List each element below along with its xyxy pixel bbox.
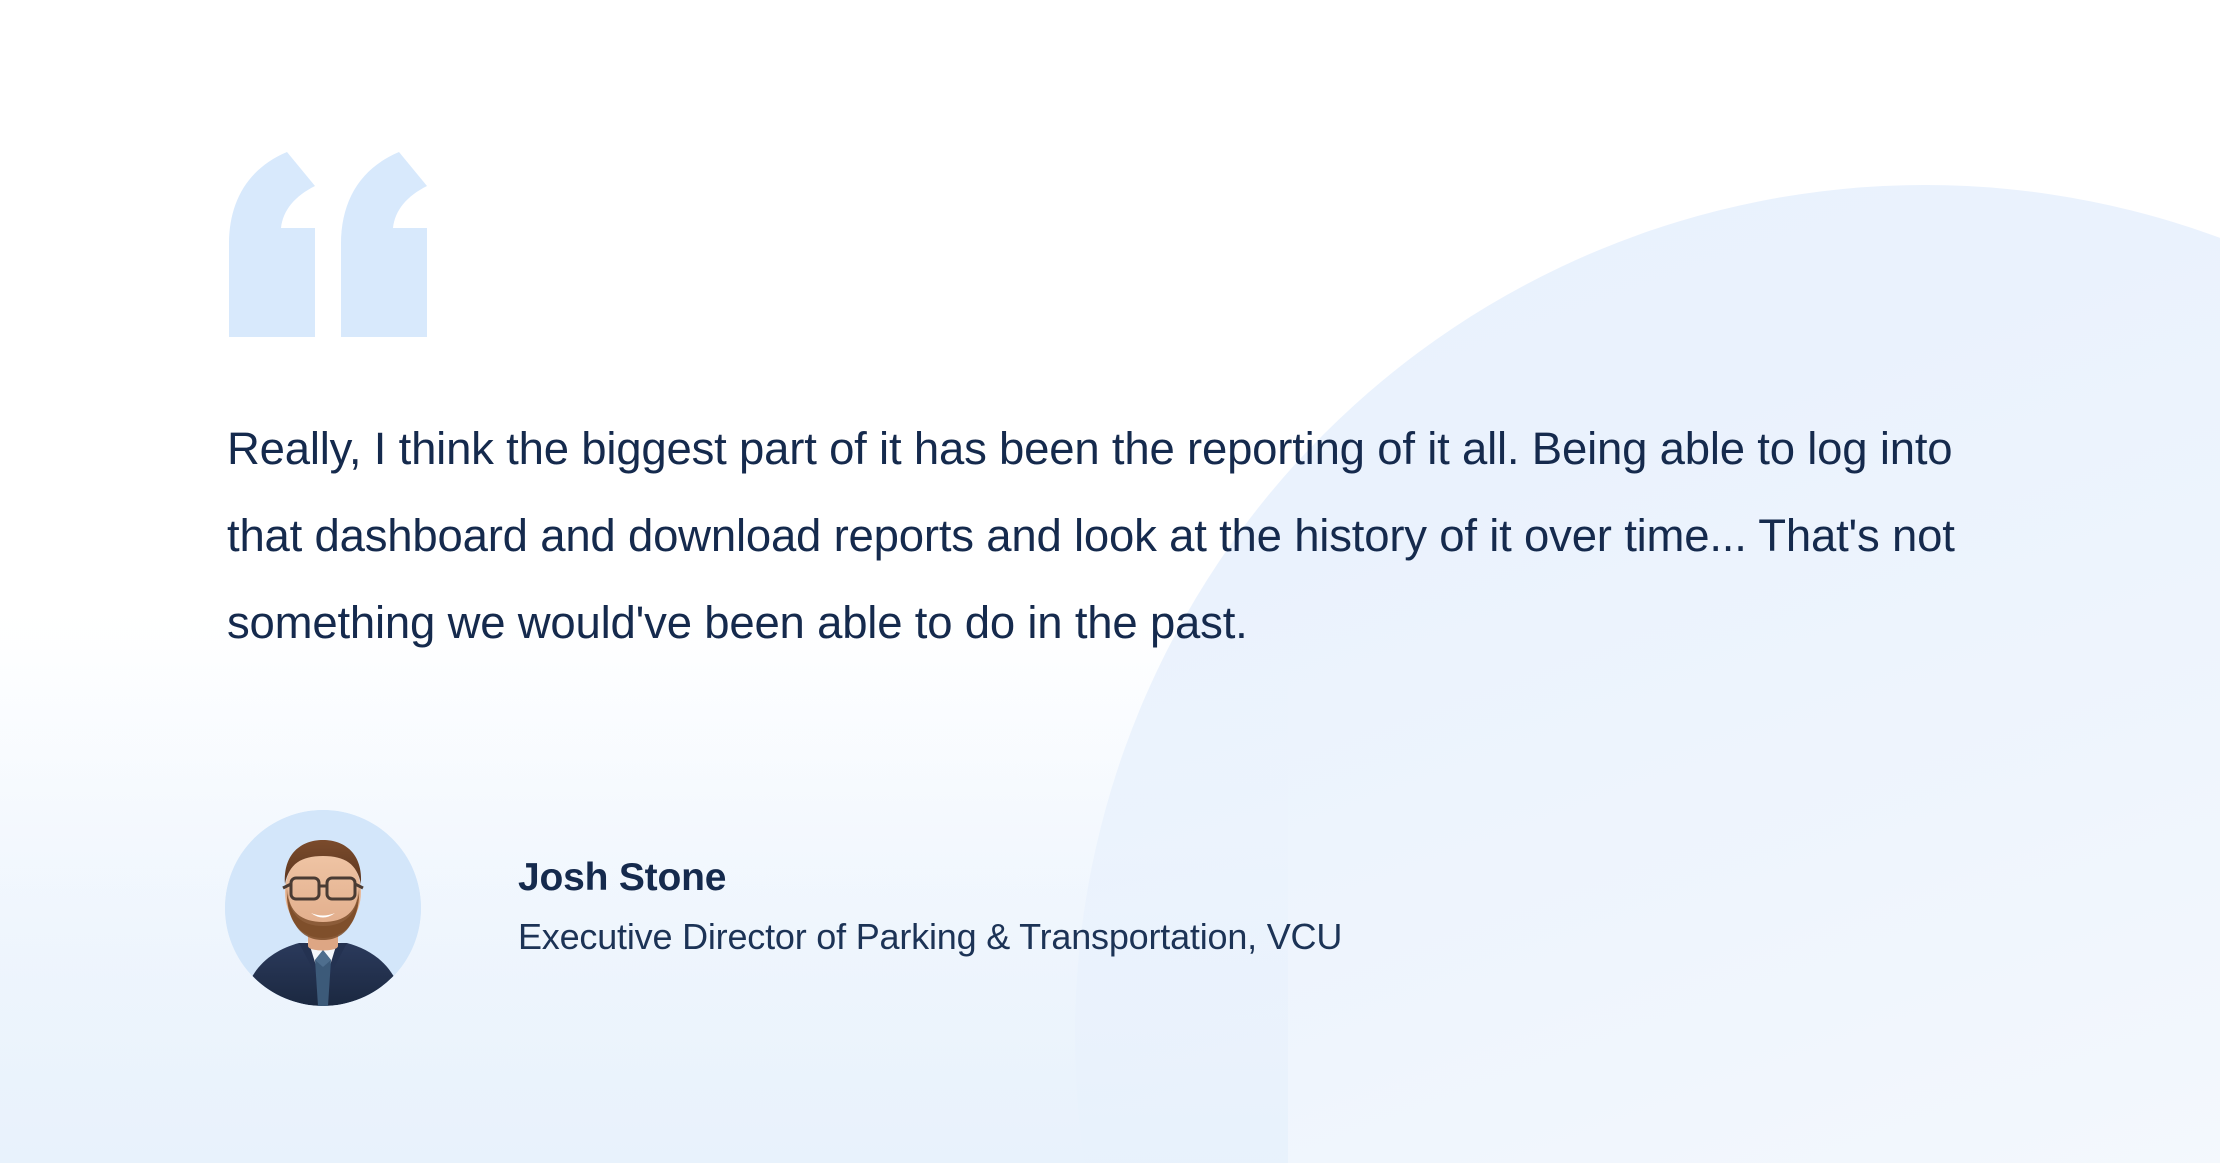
testimonial-quote-text: Really, I think the biggest part of it h… xyxy=(227,405,2017,666)
testimonial-card-stage: Really, I think the biggest part of it h… xyxy=(0,0,2220,1163)
author-info: Josh Stone Executive Director of Parking… xyxy=(518,854,1342,961)
testimonial-attribution: Josh Stone Executive Director of Parking… xyxy=(225,810,1342,1006)
avatar xyxy=(225,810,421,1006)
author-name: Josh Stone xyxy=(518,854,1342,903)
testimonial-card: Really, I think the biggest part of it h… xyxy=(225,0,2045,1163)
quote-mark-icon xyxy=(225,152,435,337)
author-title: Executive Director of Parking & Transpor… xyxy=(518,913,1342,962)
